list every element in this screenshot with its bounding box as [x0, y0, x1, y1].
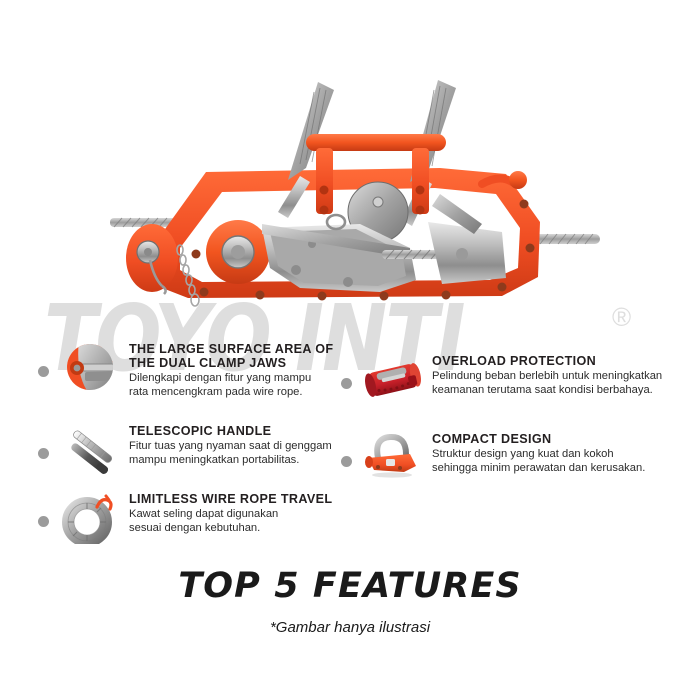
telescopic-handle-icon	[61, 424, 119, 476]
feature-body: Kawat seling dapat digunakan sesuai deng…	[129, 508, 332, 535]
footer-disclaimer: *Gambar hanya ilustrasi	[0, 619, 700, 636]
footer-headline: TOP 5 FEATURES	[0, 566, 700, 606]
feature-title: TELESCOPIC HANDLE	[129, 424, 332, 438]
features-list: THE LARGE SURFACE AREA OF THE DUAL CLAMP…	[0, 332, 700, 557]
feature-item-dual-clamp-jaws[interactable]: THE LARGE SURFACE AREA OF THE DUAL CLAMP…	[38, 342, 358, 399]
compact-design-icon	[364, 432, 422, 484]
registered-trademark-icon: ®	[612, 302, 631, 333]
product-hero-image	[110, 72, 600, 312]
feature-title: OVERLOAD PROTECTION	[432, 354, 662, 368]
feature-body: Dilengkapi dengan fitur yang mampu rata …	[129, 372, 333, 399]
footer-section: TOP 5 FEATURES *Gambar hanya ilustrasi	[0, 566, 700, 636]
feature-body: Pelindung beban berlebih untuk meningkat…	[432, 370, 662, 397]
dual-clamp-jaws-icon	[61, 338, 119, 390]
bullet-dot	[341, 456, 352, 467]
feature-item-compact-design[interactable]: COMPACT DESIGN Struktur design yang kuat…	[341, 432, 686, 484]
feature-body: Struktur design yang kuat dan kokoh sehi…	[432, 448, 645, 475]
wire-rope-puller-illustration	[110, 72, 600, 312]
feature-item-telescopic-handle[interactable]: TELESCOPIC HANDLE Fitur tuas yang nyaman…	[38, 424, 358, 476]
bullet-dot	[341, 378, 352, 389]
feature-title: THE LARGE SURFACE AREA OF THE DUAL CLAMP…	[129, 342, 333, 370]
feature-body: Fitur tuas yang nyaman saat di genggam m…	[129, 440, 332, 467]
feature-item-limitless-wire-rope-travel[interactable]: LIMITLESS WIRE ROPE TRAVEL Kawat seling …	[38, 492, 358, 544]
feature-item-overload-protection[interactable]: OVERLOAD PROTECTION Pelindung beban berl…	[341, 354, 686, 408]
feature-title: COMPACT DESIGN	[432, 432, 645, 446]
puller-pulley-wheel	[206, 220, 270, 284]
bullet-dot	[38, 366, 49, 377]
feature-title: LIMITLESS WIRE ROPE TRAVEL	[129, 492, 332, 506]
wire-rope-coil-icon	[61, 492, 119, 544]
bullet-dot	[38, 448, 49, 459]
overload-protection-icon	[364, 356, 422, 408]
bullet-dot	[38, 516, 49, 527]
